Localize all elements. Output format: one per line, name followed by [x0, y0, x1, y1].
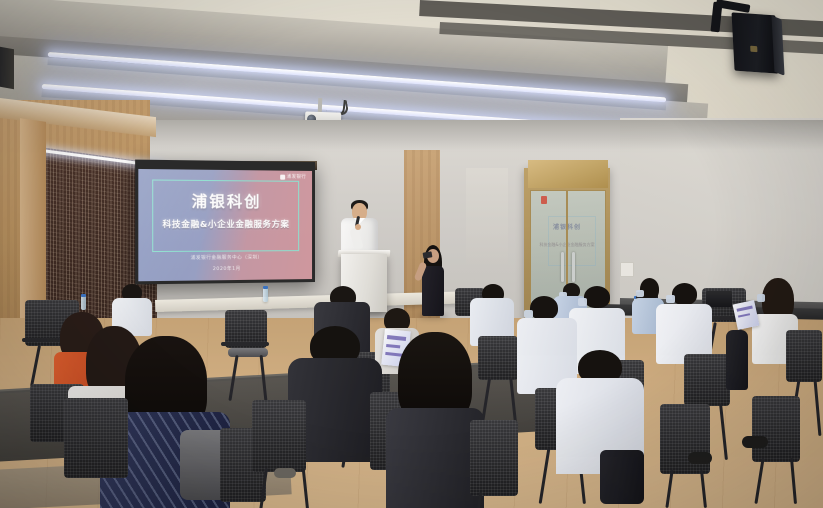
face-mask-icon-2 — [636, 290, 644, 297]
attendee-white-mid-hair — [672, 283, 697, 305]
face-mask-icon-4 — [578, 298, 587, 306]
brochure-band-2 — [738, 313, 750, 317]
brochure-band-3 — [387, 335, 406, 341]
exit-sign-icon — [541, 196, 547, 204]
chair-reader[interactable] — [786, 330, 822, 382]
attendee-fr-legs — [600, 450, 644, 504]
face-mask-icon-3 — [757, 294, 765, 302]
conference-room-photo: 浦发银行 浦银科创 科技金融&小企业金融服务方案 浦发银行金融服务中心（深圳） … — [0, 0, 823, 508]
face-mask-icon-6 — [524, 310, 533, 318]
shoe-1 — [742, 436, 768, 448]
water-bottle-2 — [263, 288, 268, 302]
slide-logo: 浦发银行 — [280, 174, 306, 180]
door-handle-left[interactable] — [561, 252, 564, 282]
wall-fixture-left — [0, 47, 14, 89]
chair-tee-left[interactable] — [252, 400, 306, 472]
chair-front-right-2[interactable] — [752, 396, 800, 462]
chair-center[interactable] — [478, 336, 518, 380]
brochure-band-5 — [385, 352, 402, 357]
photographer-body — [422, 266, 444, 316]
water-bottle-1 — [81, 296, 86, 310]
chair-arm-2 — [221, 342, 269, 346]
chair-white-mid[interactable] — [684, 354, 730, 406]
projection-screen: 浦发银行 浦银科创 科技金融&小企业金融服务方案 浦发银行金融服务中心（深圳） … — [135, 160, 315, 285]
water-bottle-cap-2 — [263, 286, 268, 289]
speaker-logo — [750, 46, 757, 53]
attendee-dark-legs — [726, 330, 748, 390]
slide-subtitle: 科技金融&小企业金融服务方案 — [138, 218, 312, 230]
attendee-lb-hair — [530, 296, 558, 320]
brochure-band-1 — [737, 306, 753, 312]
brochure-band-4 — [386, 344, 400, 348]
speaker-icon — [732, 12, 779, 73]
presenter-hand — [355, 224, 361, 230]
presentation-slide: 浦发银行 浦银科创 科技金融&小企业金融服务方案 浦发银行金融服务中心（深圳） … — [138, 169, 312, 281]
door-handle-right[interactable] — [572, 252, 575, 282]
slide-org-line: 浦发银行金融服务中心（深圳） — [138, 254, 312, 261]
chair-navy-left[interactable] — [64, 398, 128, 478]
slide-date-line: 2020年1月 — [138, 265, 312, 273]
shoe-3 — [274, 468, 296, 478]
bank-logo-icon — [280, 174, 285, 179]
slide-logo-text: 浦发银行 — [287, 174, 307, 180]
water-bottle-cap-1 — [81, 294, 86, 297]
chair-longhair[interactable] — [470, 420, 518, 496]
shoe-2 — [688, 452, 712, 464]
face-mask-icon-5 — [666, 295, 675, 303]
laptop-icon-2 — [706, 291, 732, 307]
attendee-white-right-hair — [584, 286, 610, 308]
wall-panel-light — [466, 168, 508, 264]
door-transom-panel — [528, 160, 608, 188]
wall-socket-icon[interactable] — [620, 262, 634, 277]
slide-title: 浦银科创 — [138, 190, 312, 212]
wall-top-shadow — [150, 120, 823, 150]
